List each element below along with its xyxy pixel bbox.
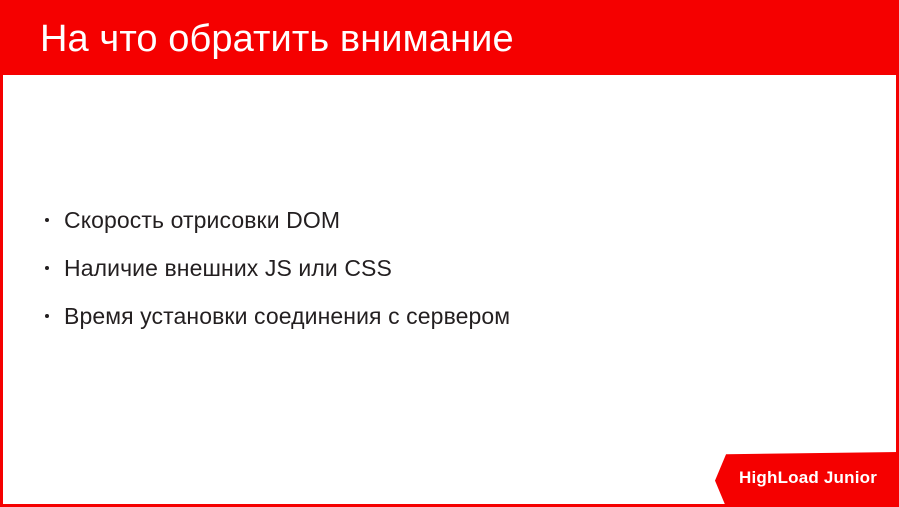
list-item: Наличие внешних JS или CSS — [42, 254, 802, 282]
slide-header-bar: На что обратить внимание — [0, 0, 899, 75]
slide-title: На что обратить внимание — [40, 17, 514, 61]
presentation-slide: На что обратить внимание Скорость отрисо… — [0, 0, 899, 507]
list-item: Время установки соединения с сервером — [42, 302, 802, 330]
list-item-label: Время установки соединения с сервером — [64, 303, 510, 329]
bullet-dot-icon — [45, 218, 49, 222]
highload-junior-logo-label: HighLoad Junior — [739, 468, 877, 488]
bullet-list: Скорость отрисовки DOM Наличие внешних J… — [42, 206, 802, 330]
list-item: Скорость отрисовки DOM — [42, 206, 802, 234]
list-item-label: Наличие внешних JS или CSS — [64, 255, 392, 281]
list-item-label: Скорость отрисовки DOM — [64, 207, 340, 233]
bullet-dot-icon — [45, 314, 49, 318]
bullet-dot-icon — [45, 266, 49, 270]
